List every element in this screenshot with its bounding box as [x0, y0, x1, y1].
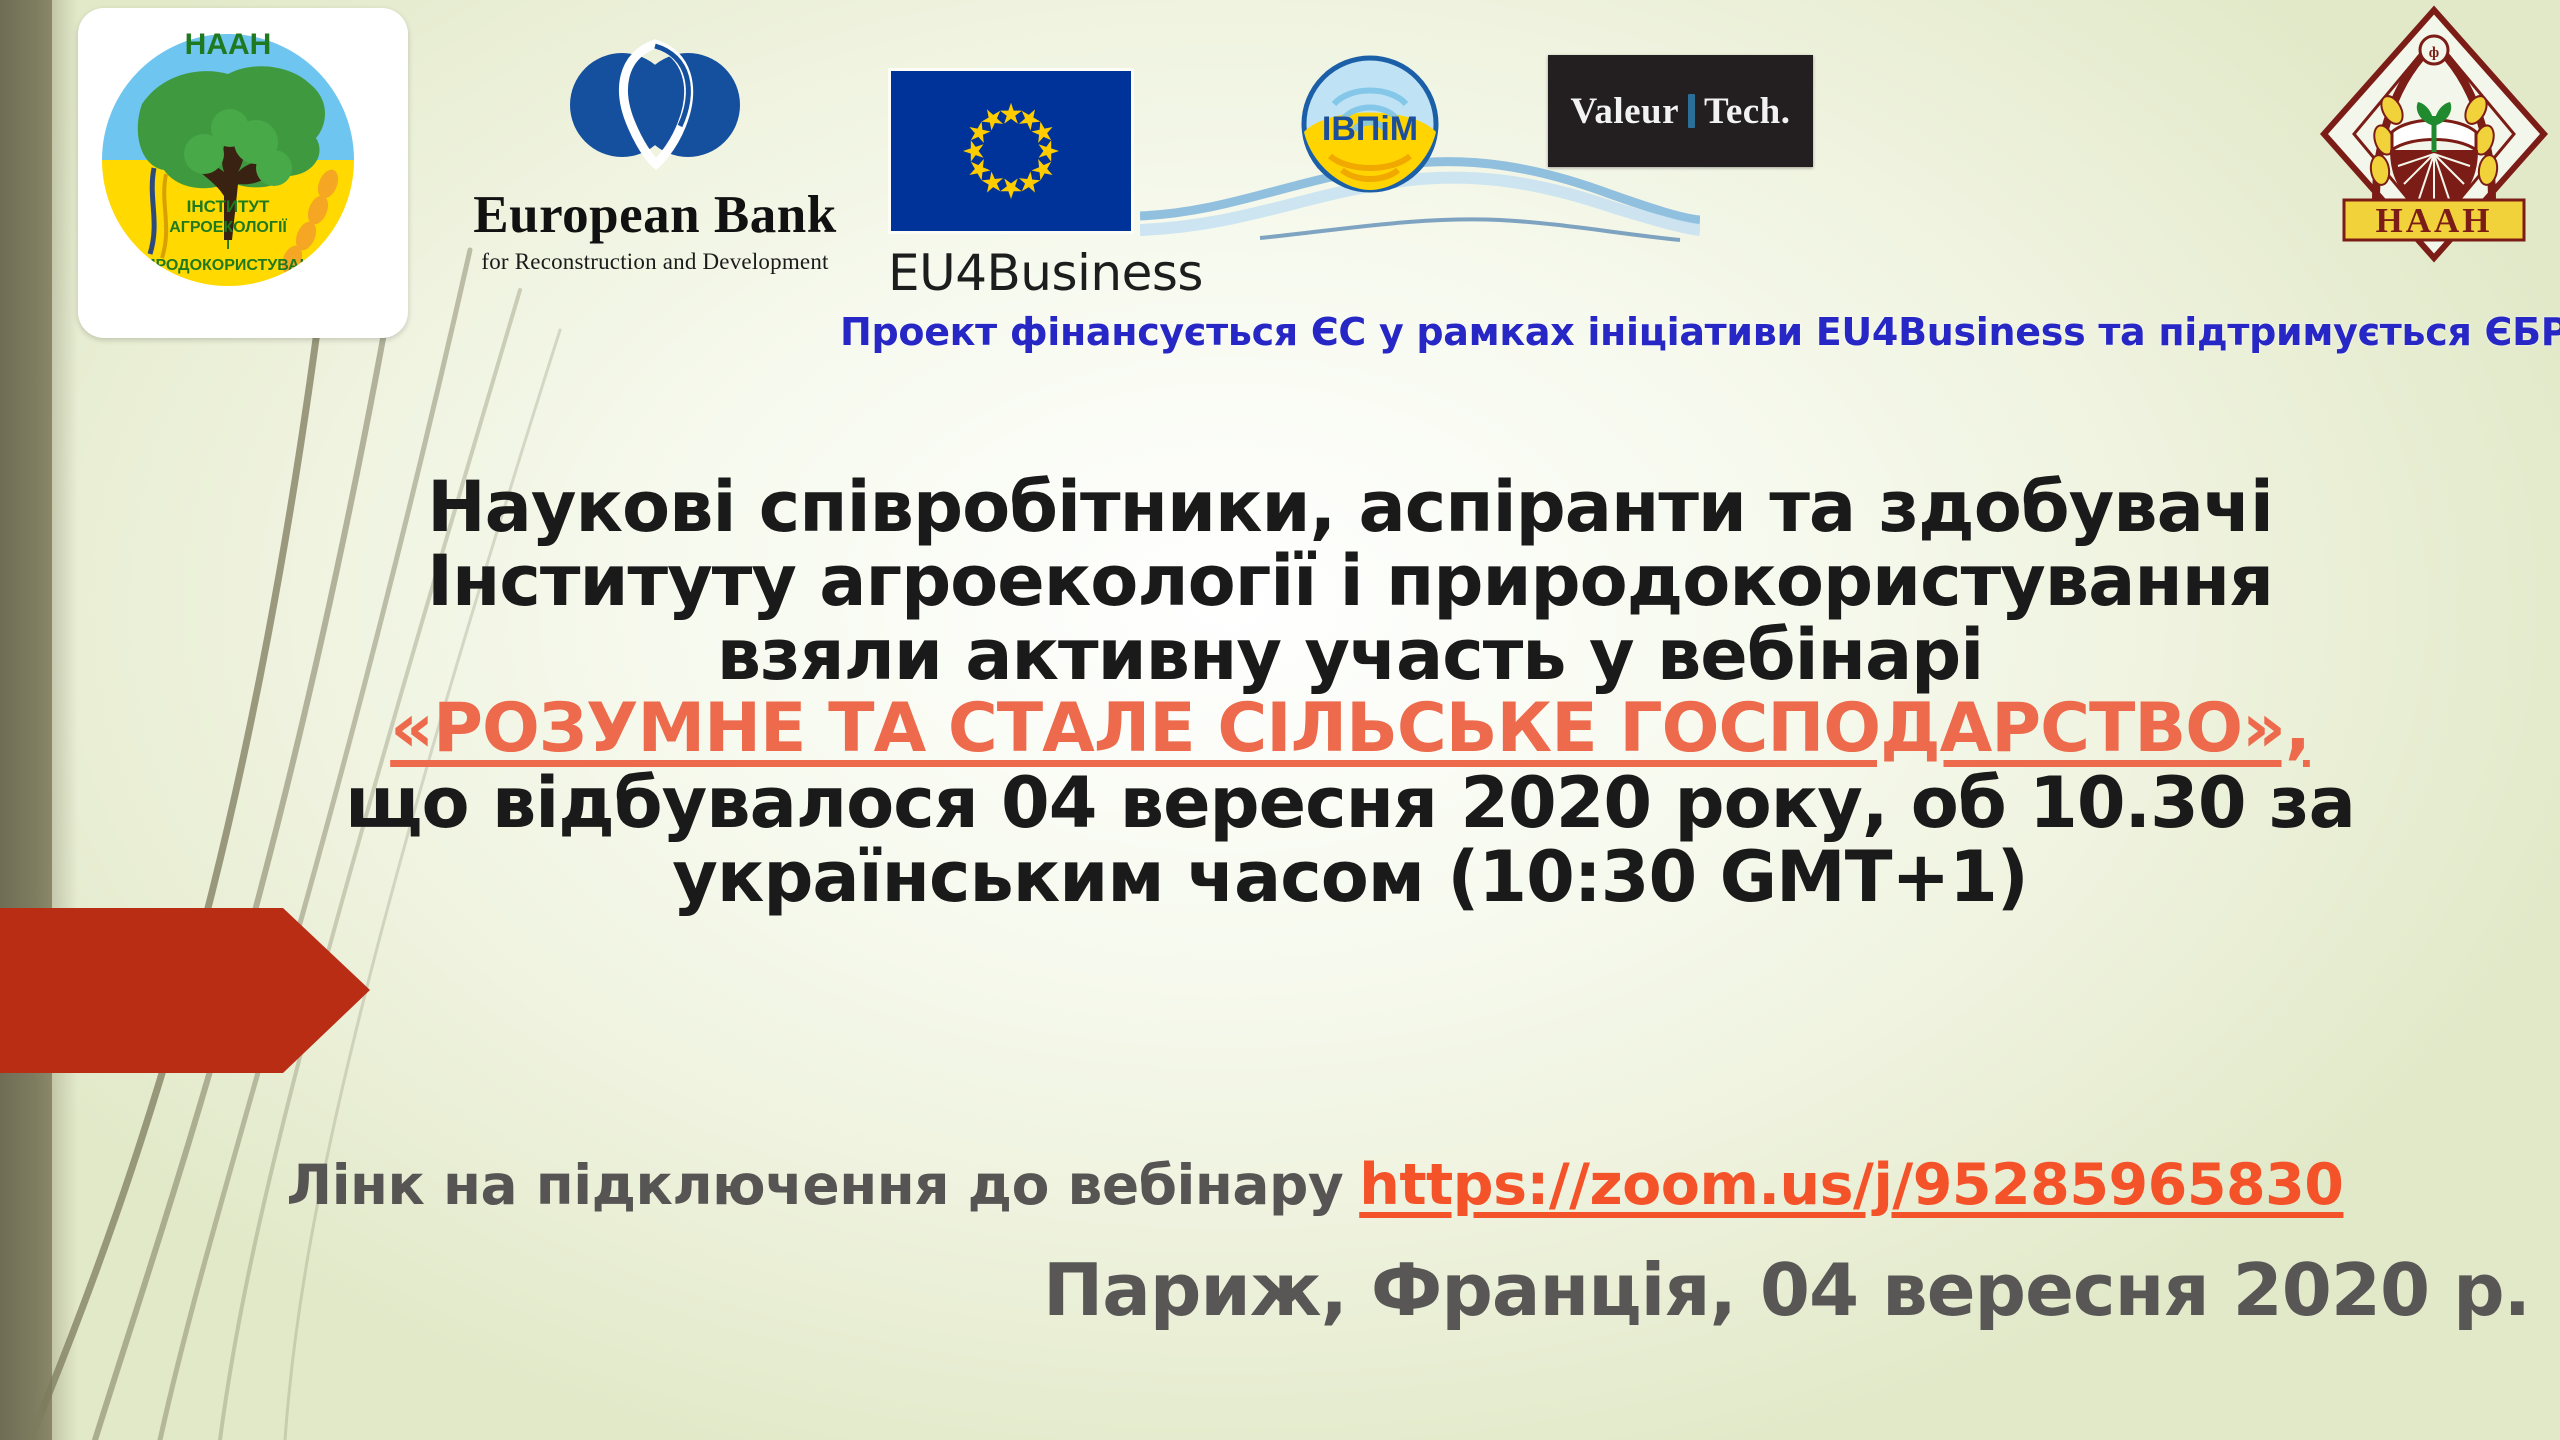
presentation-slide: ІНСТИТУТ АГРОЕКОЛОГІЇ І ПРИРОДОКОРИСТУВА… — [0, 0, 2560, 1440]
funding-note: Проект фінансується ЄС у рамках ініціати… — [840, 310, 2460, 354]
valeur-part1: Valeur — [1571, 91, 1680, 132]
body-line-2: Інституту агроекології і природокористув… — [150, 544, 2550, 618]
eu-flag-icon — [888, 68, 1134, 234]
place-and-date: Париж, Франція, 04 вересня 2020 р. — [150, 1248, 2560, 1332]
body-line-1: Наукові співробітники, аспіранти та здоб… — [150, 470, 2550, 544]
webinar-title: «РОЗУМНЕ ТА СТАЛЕ СІЛЬСЬКЕ ГОСПОДАРСТВО»… — [150, 692, 2550, 766]
body-line-3: взяли активну участь у вебінарі — [150, 618, 2550, 692]
eu4business-label: EU4Business — [888, 244, 1218, 302]
valeur-part2: Tech. — [1704, 91, 1790, 132]
european-bank-logo: European Bank for Reconstruction and Dev… — [455, 30, 855, 280]
svg-text:ІВПіМ: ІВПіМ — [1322, 110, 1418, 148]
body-line-6: українським часом (10:30 GMT+1) — [150, 840, 2550, 914]
sponsor-logo-bar: ІНСТИТУТ АГРОЕКОЛОГІЇ І ПРИРОДОКОРИСТУВА… — [0, 0, 2560, 360]
red-arrow-banner — [0, 908, 370, 1073]
naan-academy-emblem: ф НААН — [2318, 4, 2550, 264]
webinar-link-row: Лінк на підключення до вебінаруhttps://z… — [150, 1152, 2480, 1218]
svg-text:ПРИРОДОКОРИСТУВАННЯ: ПРИРОДОКОРИСТУВАННЯ — [122, 257, 334, 274]
ebrd-subtitle: for Reconstruction and Development — [455, 249, 855, 275]
slide-body: Наукові співробітники, аспіранти та здоб… — [150, 470, 2550, 914]
svg-text:НААН: НААН — [185, 28, 272, 61]
body-line-5: що відбувалося 04 вересня 2020 року, об … — [150, 766, 2550, 840]
valeur-divider-icon — [1688, 94, 1695, 128]
svg-text:АГРОЕКОЛОГІЇ: АГРОЕКОЛОГІЇ — [169, 218, 287, 236]
valeur-tech-logo: ValeurTech. — [1548, 55, 1813, 167]
svg-text:НААН: НААН — [2376, 201, 2493, 240]
valeur-tech-wordmark: ValeurTech. — [1571, 90, 1791, 133]
webinar-zoom-link[interactable]: https://zoom.us/j/95285965830 — [1359, 1152, 2343, 1218]
webinar-link-label: Лінк на підключення до вебінару — [287, 1153, 1344, 1217]
svg-text:І: І — [226, 237, 230, 252]
ivpim-logo: ІВПіМ — [1278, 48, 1468, 208]
svg-text:ф: ф — [2429, 45, 2439, 61]
ebrd-title: European Bank — [455, 189, 855, 242]
ebrd-mark-icon — [560, 30, 750, 180]
naan-institute-logo: ІНСТИТУТ АГРОЕКОЛОГІЇ І ПРИРОДОКОРИСТУВА… — [78, 8, 408, 338]
svg-text:ІНСТИТУТ: ІНСТИТУТ — [187, 197, 270, 216]
